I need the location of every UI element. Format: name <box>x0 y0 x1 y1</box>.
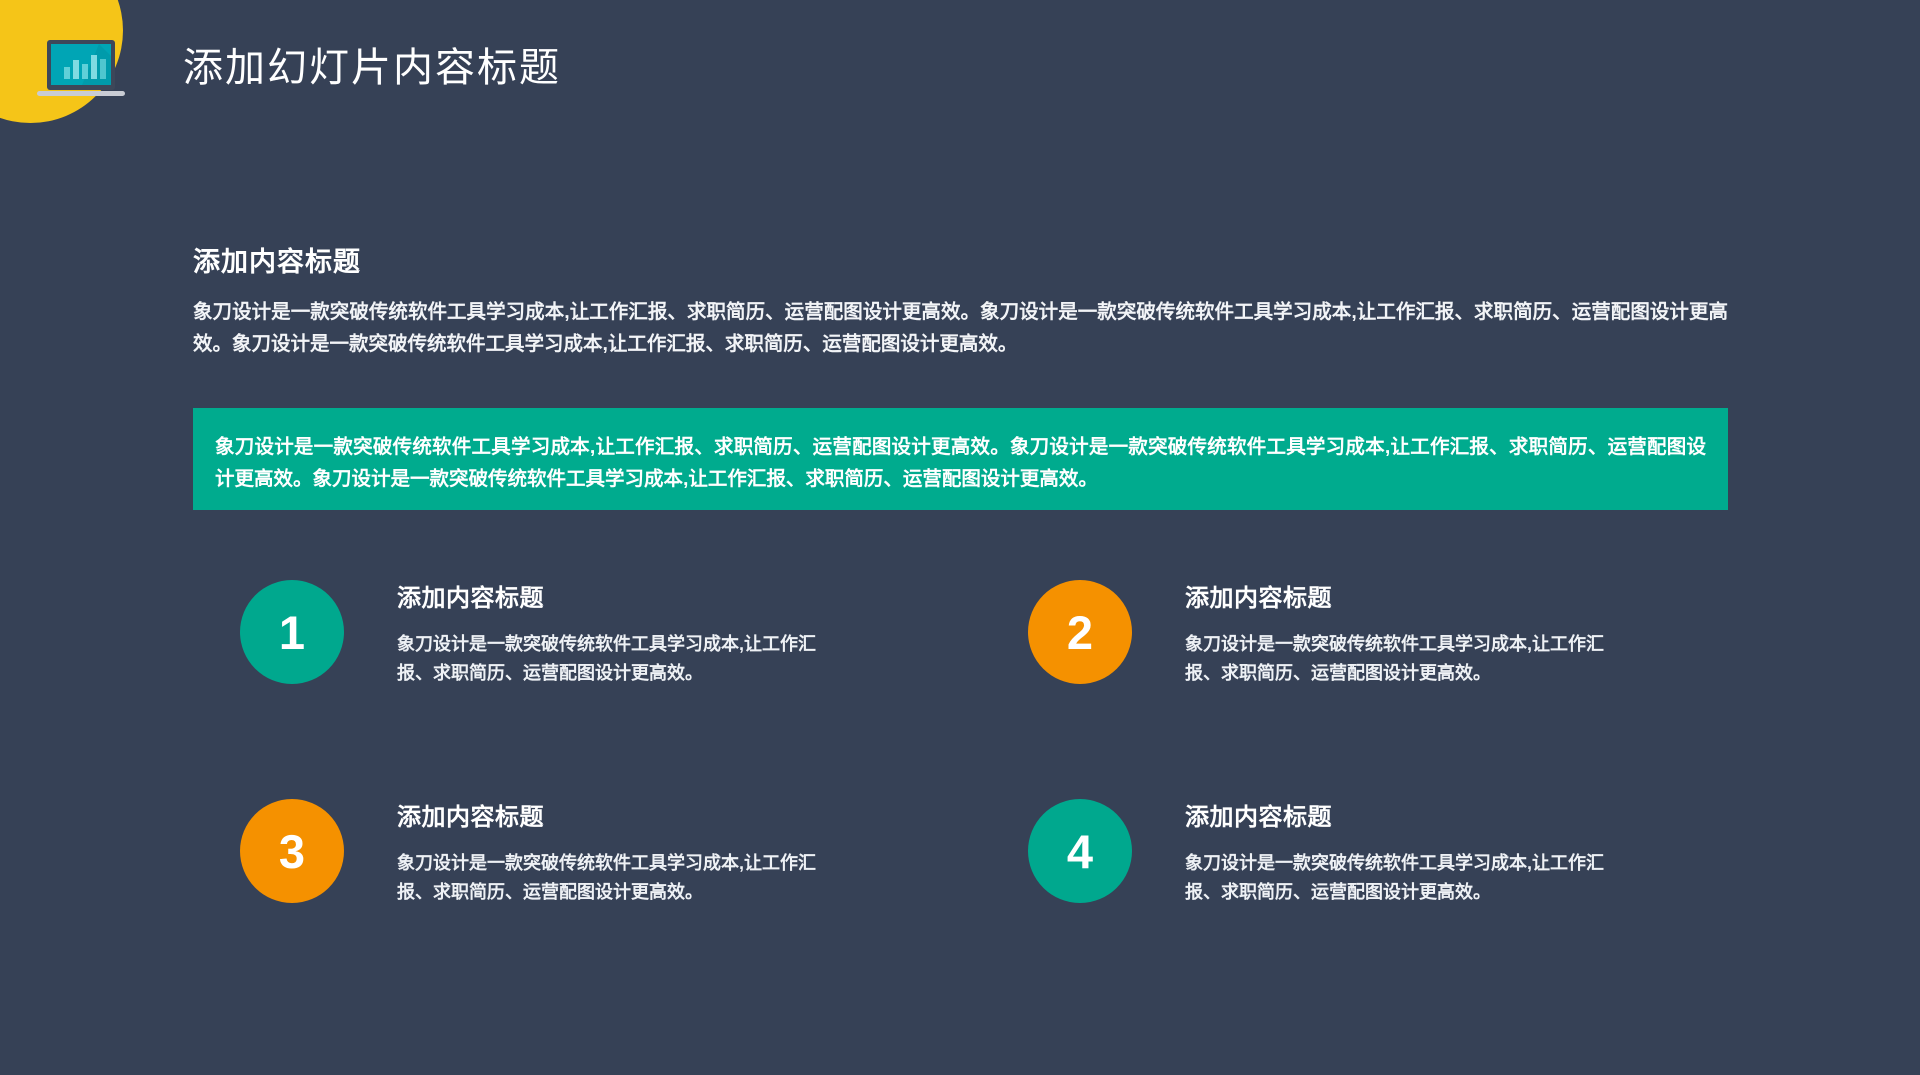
item-number-badge: 3 <box>240 799 344 903</box>
highlight-body-text: 象刀设计是一款突破传统软件工具学习成本,让工作汇报、求职简历、运营配图设计更高效… <box>215 432 1706 495</box>
highlight-callout-band: 象刀设计是一款突破传统软件工具学习成本,让工作汇报、求职简历、运营配图设计更高效… <box>193 408 1728 510</box>
item-number-badge: 2 <box>1028 580 1132 684</box>
item-description: 象刀设计是一款突破传统软件工具学习成本,让工作汇报、求职简历、运营配图设计更高效… <box>1185 630 1605 688</box>
slide-header: 添加幻灯片内容标题 <box>0 0 1920 130</box>
item-description: 象刀设计是一款突破传统软件工具学习成本,让工作汇报、求职简历、运营配图设计更高效… <box>397 849 817 907</box>
item-text-block: 添加内容标题 象刀设计是一款突破传统软件工具学习成本,让工作汇报、求职简历、运营… <box>397 797 867 907</box>
item-description: 象刀设计是一款突破传统软件工具学习成本,让工作汇报、求职简历、运营配图设计更高效… <box>397 630 817 688</box>
intro-title: 添加内容标题 <box>193 245 1728 280</box>
item-title: 添加内容标题 <box>397 585 867 614</box>
item-title: 添加内容标题 <box>1185 804 1655 833</box>
list-item[interactable]: 3 添加内容标题 象刀设计是一款突破传统软件工具学习成本,让工作汇报、求职简历、… <box>240 797 940 907</box>
item-text-block: 添加内容标题 象刀设计是一款突破传统软件工具学习成本,让工作汇报、求职简历、运营… <box>1185 797 1655 907</box>
laptop-bar-chart-icon <box>37 40 125 102</box>
item-text-block: 添加内容标题 象刀设计是一款突破传统软件工具学习成本,让工作汇报、求职简历、运营… <box>397 578 867 688</box>
slide-canvas: 添加幻灯片内容标题 添加内容标题 象刀设计是一款突破传统软件工具学习成本,让工作… <box>0 0 1920 1075</box>
item-number-badge: 4 <box>1028 799 1132 903</box>
intro-section: 添加内容标题 象刀设计是一款突破传统软件工具学习成本,让工作汇报、求职简历、运营… <box>193 245 1728 360</box>
list-item[interactable]: 2 添加内容标题 象刀设计是一款突破传统软件工具学习成本,让工作汇报、求职简历、… <box>1028 578 1728 688</box>
item-title: 添加内容标题 <box>397 804 867 833</box>
intro-body-text: 象刀设计是一款突破传统软件工具学习成本,让工作汇报、求职简历、运营配图设计更高效… <box>193 297 1728 360</box>
item-description: 象刀设计是一款突破传统软件工具学习成本,让工作汇报、求职简历、运营配图设计更高效… <box>1185 849 1605 907</box>
list-item[interactable]: 4 添加内容标题 象刀设计是一款突破传统软件工具学习成本,让工作汇报、求职简历、… <box>1028 797 1728 907</box>
list-item[interactable]: 1 添加内容标题 象刀设计是一款突破传统软件工具学习成本,让工作汇报、求职简历、… <box>240 578 940 688</box>
page-title: 添加幻灯片内容标题 <box>183 42 561 94</box>
item-text-block: 添加内容标题 象刀设计是一款突破传统软件工具学习成本,让工作汇报、求职简历、运营… <box>1185 578 1655 688</box>
item-number-badge: 1 <box>240 580 344 684</box>
item-title: 添加内容标题 <box>1185 585 1655 614</box>
